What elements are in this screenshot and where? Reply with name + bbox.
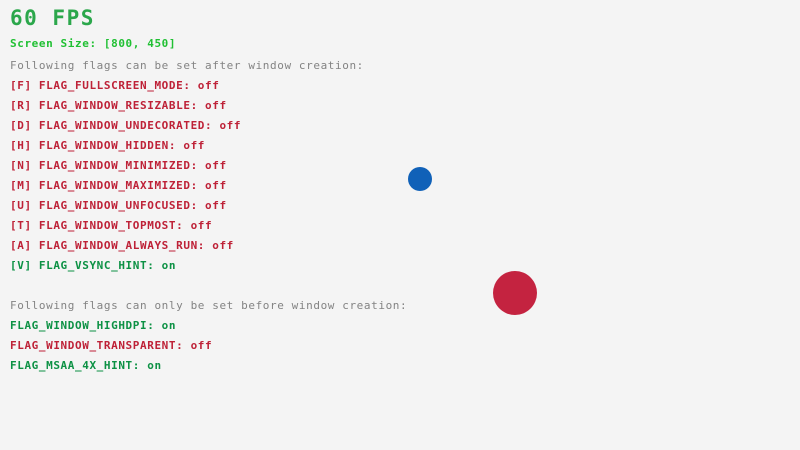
creation-flags-header: Following flags can only be set before w… <box>10 300 407 311</box>
screen-size-label: Screen Size: [800, 450] <box>10 38 176 49</box>
flag-flag-fullscreen-mode[interactable]: [F] FLAG_FULLSCREEN_MODE: off <box>10 80 219 91</box>
blue-ball <box>408 167 432 191</box>
red-ball <box>493 271 537 315</box>
flag-flag-window-unfocused[interactable]: [U] FLAG_WINDOW_UNFOCUSED: off <box>10 200 227 211</box>
flag-flag-window-hidden[interactable]: [H] FLAG_WINDOW_HIDDEN: off <box>10 140 205 151</box>
flag-flag-window-highdpi[interactable]: FLAG_WINDOW_HIGHDPI: on <box>10 320 176 331</box>
flag-flag-window-undecorated[interactable]: [D] FLAG_WINDOW_UNDECORATED: off <box>10 120 241 131</box>
flag-flag-window-minimized[interactable]: [N] FLAG_WINDOW_MINIMIZED: off <box>10 160 227 171</box>
flag-flag-window-resizable[interactable]: [R] FLAG_WINDOW_RESIZABLE: off <box>10 100 227 111</box>
flag-flag-msaa-4x-hint[interactable]: FLAG_MSAA_4X_HINT: on <box>10 360 162 371</box>
raylib-window-canvas[interactable]: 60 FPS Screen Size: [800, 450] Following… <box>0 0 800 450</box>
flag-flag-vsync-hint[interactable]: [V] FLAG_VSYNC_HINT: on <box>10 260 176 271</box>
flag-flag-window-transparent[interactable]: FLAG_WINDOW_TRANSPARENT: off <box>10 340 212 351</box>
flag-flag-window-topmost[interactable]: [T] FLAG_WINDOW_TOPMOST: off <box>10 220 212 231</box>
fps-counter: 60 FPS <box>10 8 95 29</box>
flag-flag-window-always-run[interactable]: [A] FLAG_WINDOW_ALWAYS_RUN: off <box>10 240 234 251</box>
runtime-flags-header: Following flags can be set after window … <box>10 60 364 71</box>
flag-flag-window-maximized[interactable]: [M] FLAG_WINDOW_MAXIMIZED: off <box>10 180 227 191</box>
